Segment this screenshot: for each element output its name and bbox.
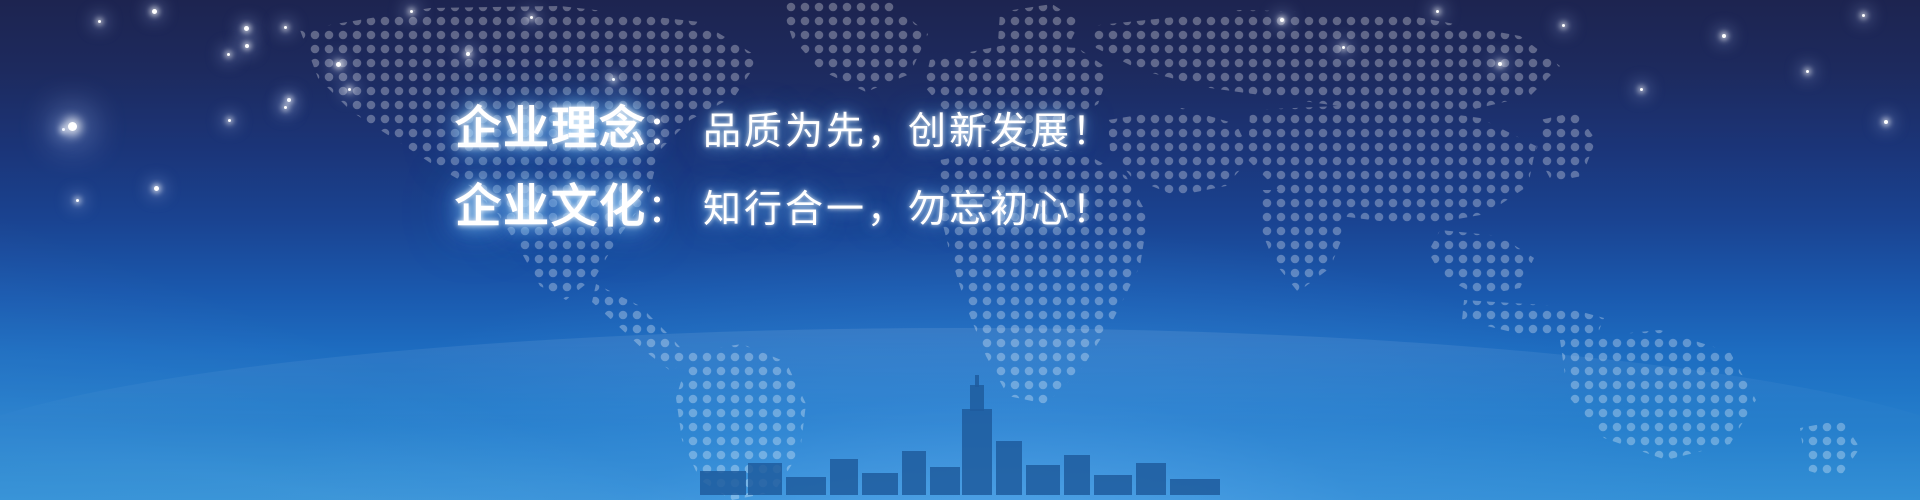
headline-line-1: 企业理念 ： 品质为先，创新发展！ — [455, 104, 1215, 182]
star — [154, 186, 159, 191]
star — [410, 10, 413, 13]
star — [284, 106, 287, 109]
star — [1342, 46, 1345, 49]
star — [1884, 120, 1888, 124]
headline-line-1-rest: 品质为先，创新发展！ — [703, 113, 1113, 153]
star — [1806, 70, 1809, 73]
star — [287, 98, 291, 102]
headline-line-2-colon: ： — [647, 188, 687, 230]
horizon-glow — [0, 328, 1920, 478]
star — [336, 62, 341, 67]
star — [1862, 14, 1865, 17]
hero-banner: 企业理念 ： 品质为先，创新发展！ 企业文化 ： 知行合一，勿忘初心！ — [0, 0, 1920, 500]
star — [1280, 18, 1284, 22]
star — [152, 9, 157, 14]
star — [284, 26, 287, 29]
star — [62, 128, 65, 131]
star — [98, 20, 101, 23]
headline-block: 企业理念 ： 品质为先，创新发展！ 企业文化 ： 知行合一，勿忘初心！ — [455, 104, 1215, 260]
star — [1640, 88, 1643, 91]
headline-line-2-lead: 企业文化 — [455, 182, 647, 230]
star — [530, 16, 533, 19]
star — [1498, 62, 1502, 66]
star — [244, 26, 249, 31]
headline-line-2-rest: 知行合一，勿忘初心！ — [703, 191, 1113, 231]
headline-line-1-lead: 企业理念 — [455, 104, 647, 152]
star — [348, 88, 351, 91]
star — [228, 119, 231, 122]
city-skyline — [700, 375, 1220, 500]
star — [245, 44, 249, 48]
headline-line-1-colon: ： — [647, 110, 687, 152]
star — [68, 122, 77, 131]
star — [1722, 34, 1726, 38]
star — [1562, 24, 1565, 27]
star — [1436, 10, 1439, 13]
star — [227, 53, 230, 56]
star — [466, 52, 470, 56]
headline-line-2: 企业文化 ： 知行合一，勿忘初心！ — [455, 182, 1215, 260]
star — [612, 78, 615, 81]
star — [76, 199, 79, 202]
